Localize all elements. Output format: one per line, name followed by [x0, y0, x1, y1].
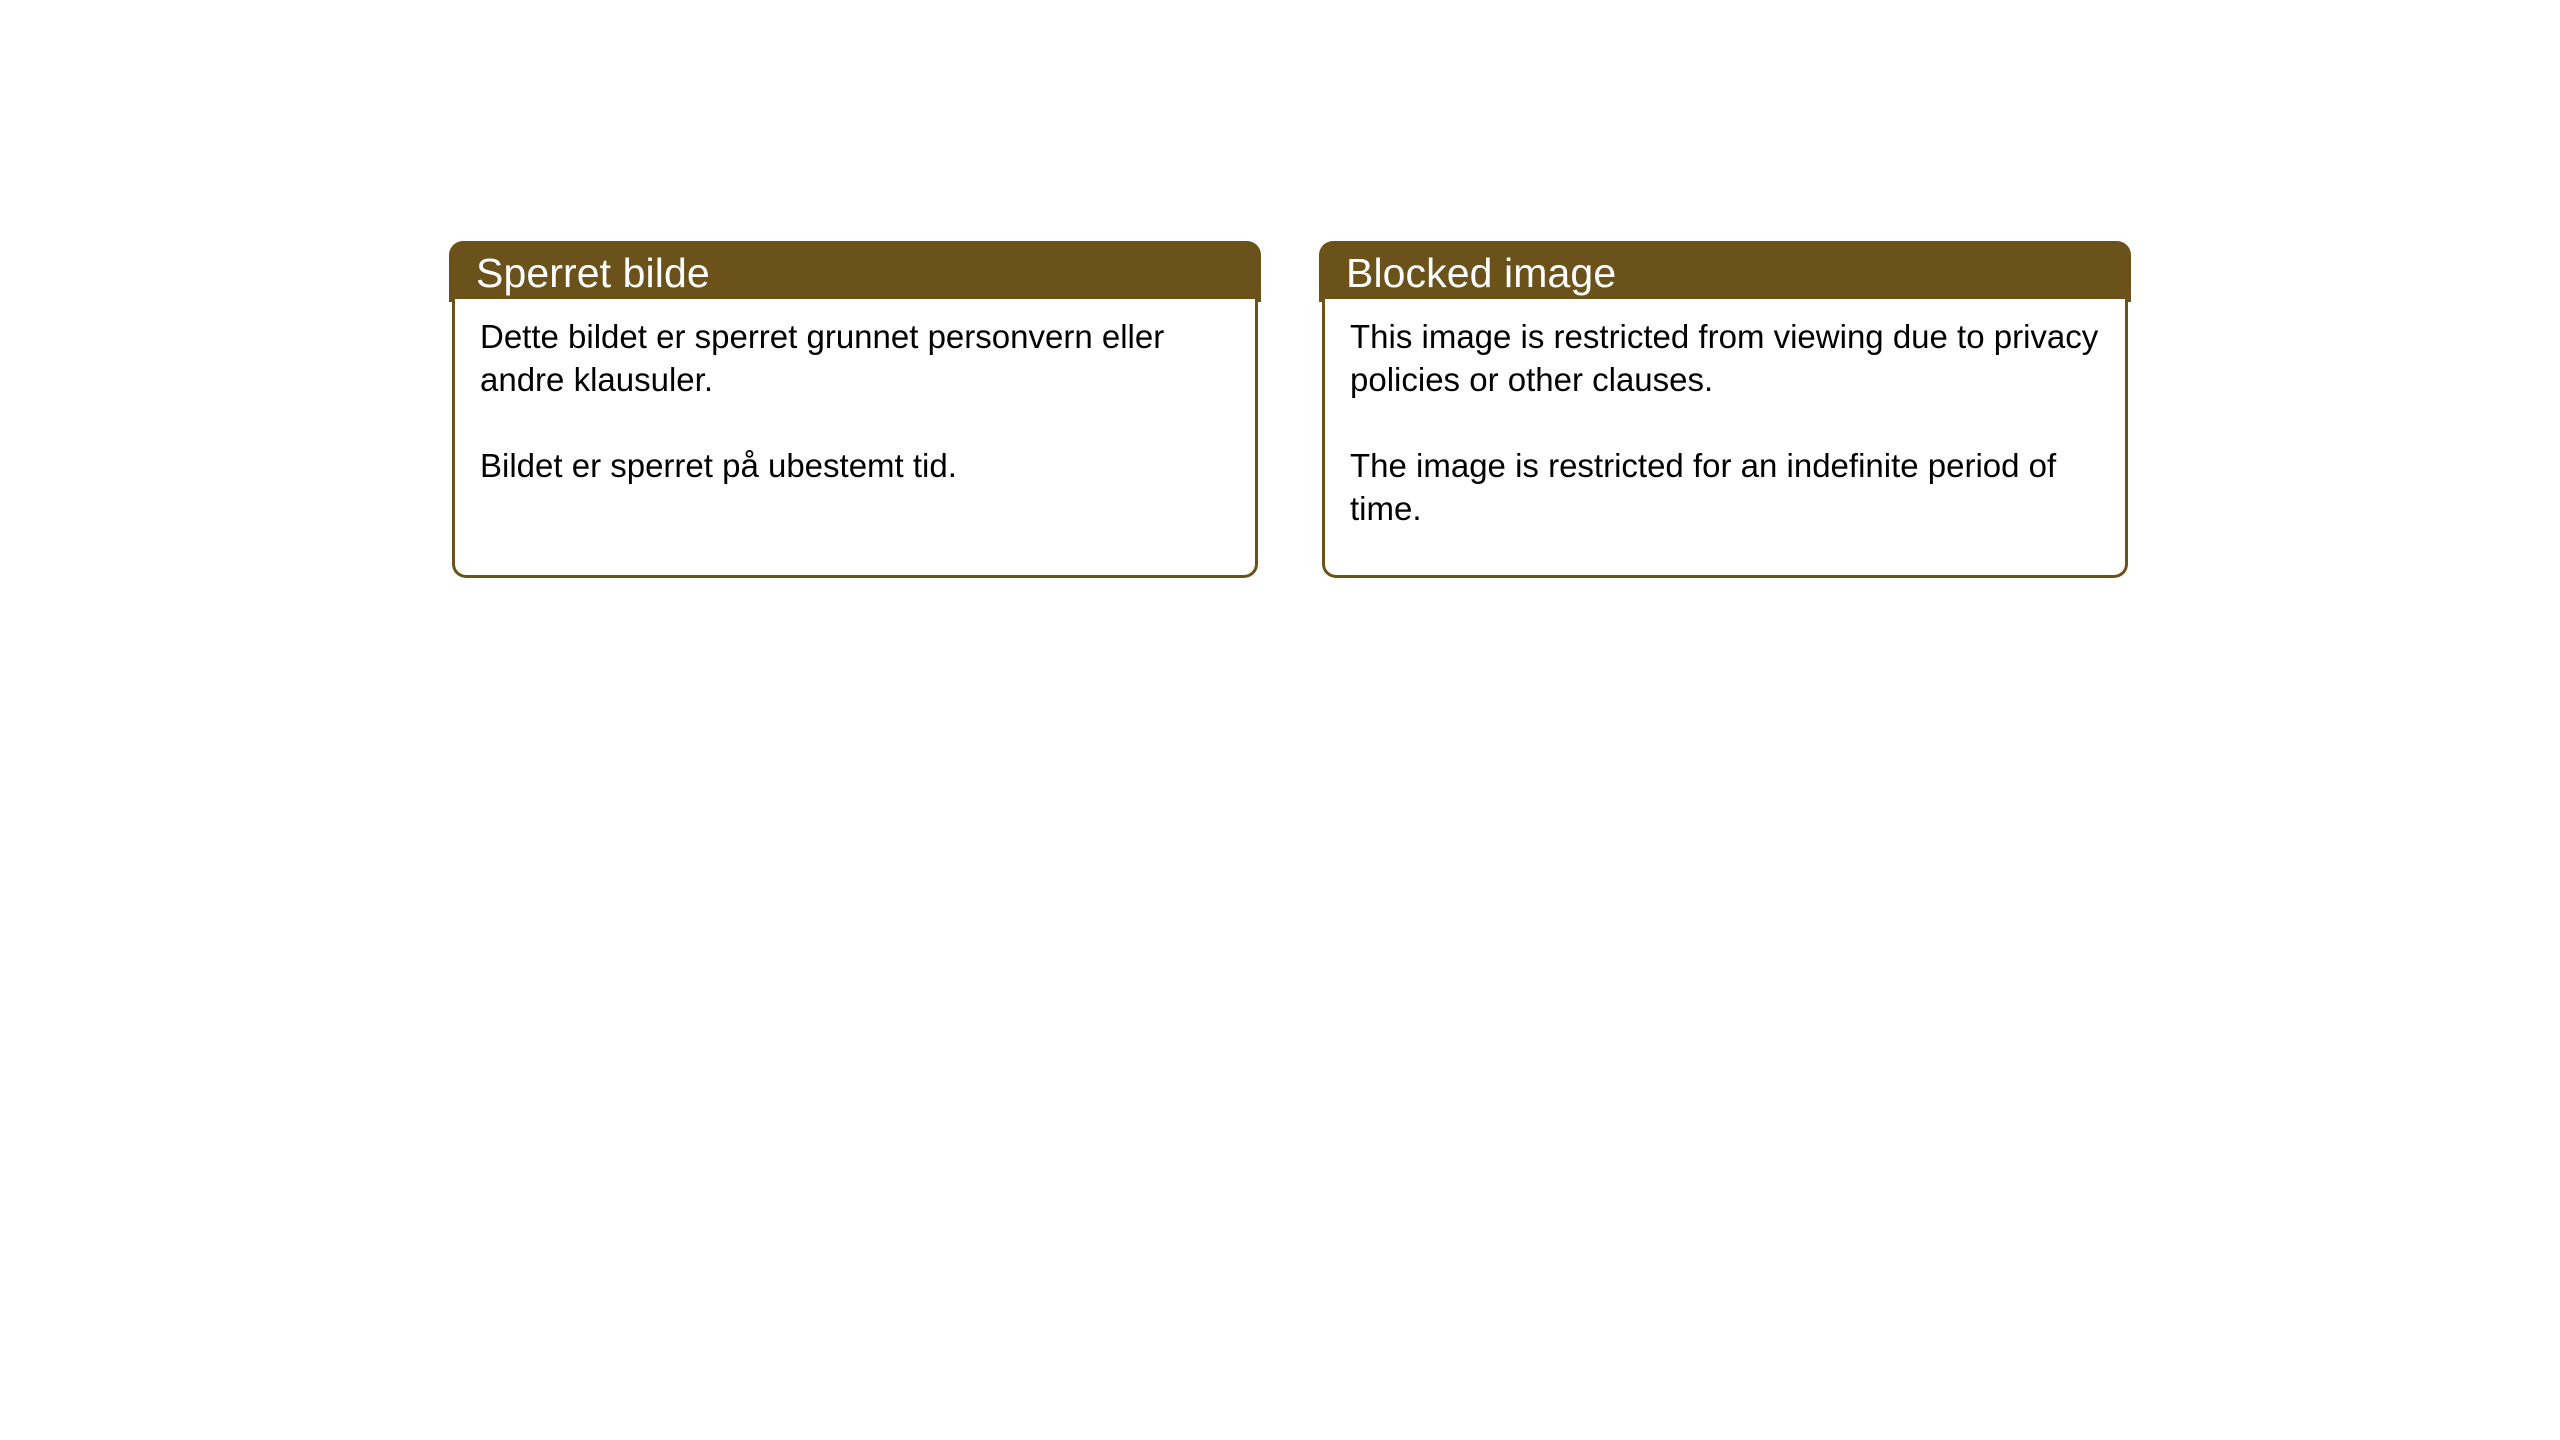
card-paragraph-norwegian-2: Bildet er sperret på ubestemt tid.: [480, 444, 1243, 487]
card-header-english: Blocked image: [1319, 241, 2131, 302]
card-body-norwegian: Dette bildet er sperret grunnet personve…: [452, 299, 1258, 578]
card-text-english: This image is restricted from viewing du…: [1350, 315, 2113, 530]
card-body-english: This image is restricted from viewing du…: [1322, 299, 2128, 578]
card-text-norwegian: Dette bildet er sperret grunnet personve…: [480, 315, 1243, 487]
blocked-image-notice-card-norwegian: Sperret bilde Dette bildet er sperret gr…: [452, 241, 1258, 578]
card-paragraph-norwegian-1: Dette bildet er sperret grunnet personve…: [480, 315, 1243, 401]
card-title-norwegian: Sperret bilde: [476, 250, 710, 296]
card-paragraph-english-1: This image is restricted from viewing du…: [1350, 315, 2113, 401]
page-root: Sperret bilde Dette bildet er sperret gr…: [0, 0, 2560, 1440]
card-title-english: Blocked image: [1346, 250, 1616, 296]
blocked-image-notice-card-english: Blocked image This image is restricted f…: [1322, 241, 2128, 578]
card-paragraph-english-2: The image is restricted for an indefinit…: [1350, 444, 2113, 530]
card-header-norwegian: Sperret bilde: [449, 241, 1261, 302]
